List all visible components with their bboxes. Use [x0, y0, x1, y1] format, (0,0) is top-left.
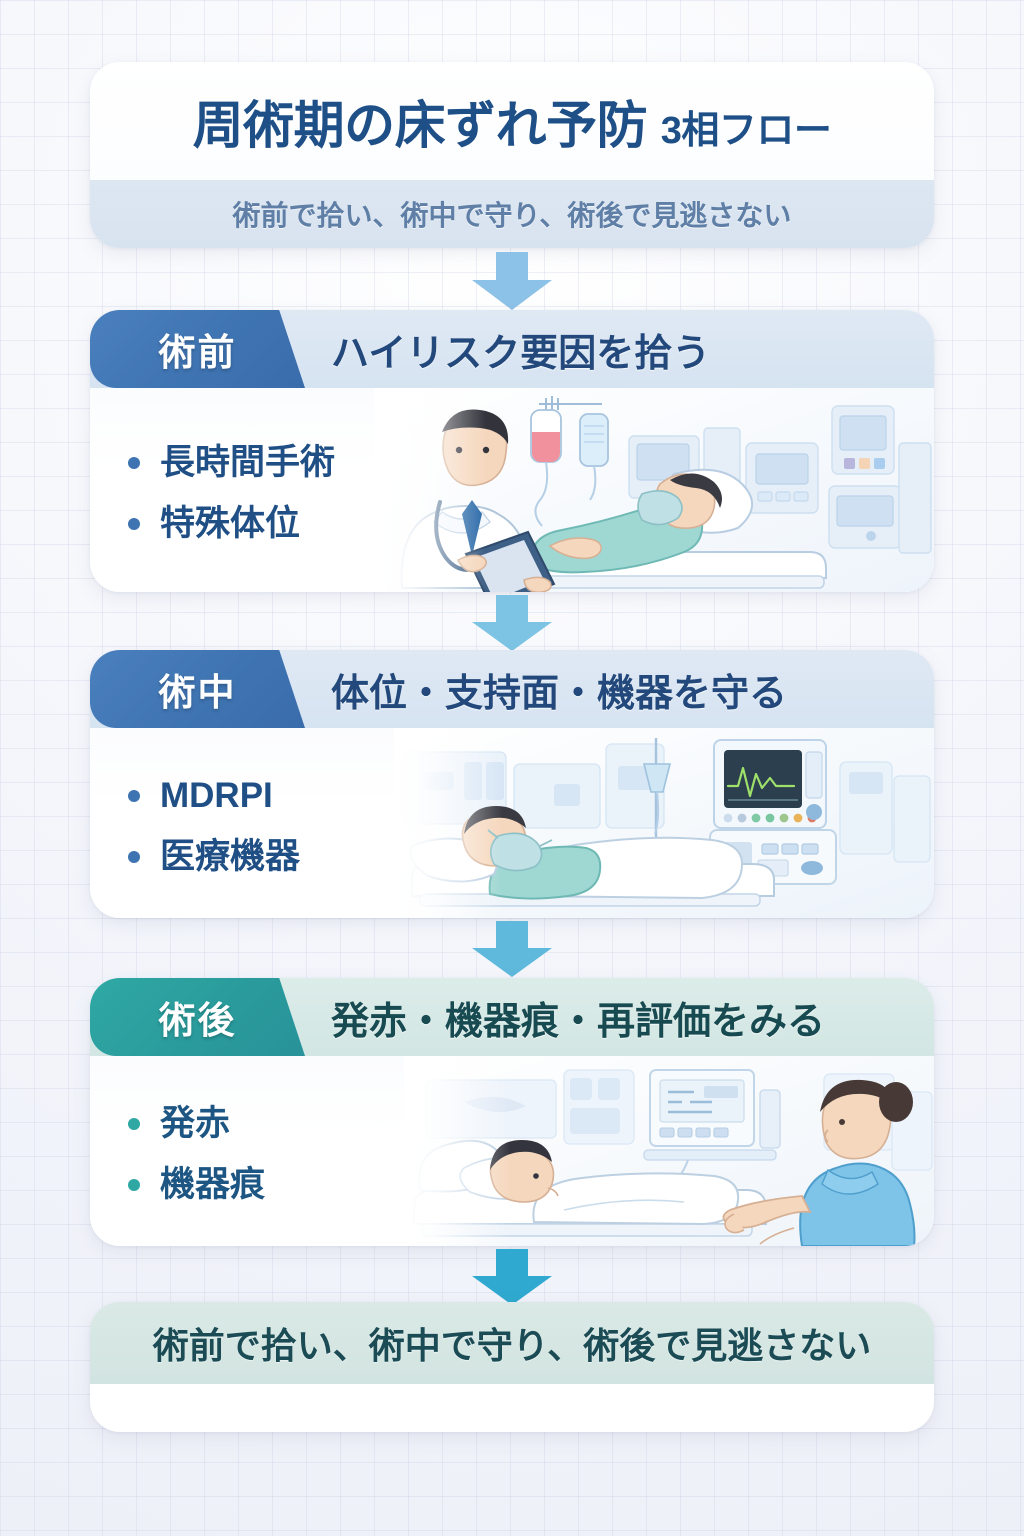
title-main-row: 周術期の床ずれ予防 3相フロー [90, 62, 934, 180]
bullet-list-postop: 発赤 機器痕 [90, 1100, 265, 1202]
bullet-label: MDRPI [160, 778, 273, 813]
phase-badge-preop: 術前 [90, 310, 305, 388]
list-item: MDRPI [128, 778, 300, 813]
bullet-dot-icon [128, 518, 140, 530]
title-card: 周術期の床ずれ予防 3相フロー 術前で拾い、術中で守り、術後で見逃さない [90, 62, 934, 248]
illustration-preop [374, 388, 934, 592]
phase-header-intraop: 術中 体位・支持面・機器を守る [90, 650, 934, 728]
infographic-page: 周術期の床ずれ予防 3相フロー 術前で拾い、術中で守り、術後で見逃さない 術前 … [0, 0, 1024, 1536]
phase-body-preop: 長時間手術 特殊体位 [90, 388, 934, 592]
bullet-dot-icon [128, 851, 140, 863]
bullet-label: 機器痕 [160, 1167, 265, 1202]
footer-band: 術前で拾い、術中で守り、術後で見逃さない [90, 1302, 934, 1384]
bullet-label: 特殊体位 [160, 506, 300, 541]
phase-body-postop: 発赤 機器痕 [90, 1056, 934, 1246]
phase-card-postop: 術後 発赤・機器痕・再評価をみる [90, 978, 934, 1246]
list-item: 特殊体位 [128, 506, 335, 541]
phase-card-intraop: 術中 体位・支持面・機器を守る [90, 650, 934, 918]
bullet-dot-icon [128, 457, 140, 469]
footer-card: 術前で拾い、術中で守り、術後で見逃さない [90, 1302, 934, 1432]
illustration-intraop [394, 728, 934, 918]
bullet-dot-icon [128, 1179, 140, 1191]
footer-message: 術前で拾い、術中で守り、術後で見逃さない [153, 1317, 872, 1369]
list-item: 長時間手術 [128, 445, 335, 480]
phase-heading-postop: 発赤・機器痕・再評価をみる [305, 978, 825, 1056]
bullet-label: 長時間手術 [160, 445, 335, 480]
page-title: 周術期の床ずれ予防 3相フロー [193, 84, 832, 158]
bullet-label: 医療機器 [160, 839, 300, 874]
phase-header-preop: 術前 ハイリスク要因を拾う [90, 310, 934, 388]
bullet-list-preop: 長時間手術 特殊体位 [90, 439, 335, 541]
page-subtitle: 術前で拾い、術中で守り、術後で見逃さない [233, 194, 792, 234]
phase-badge-intraop: 術中 [90, 650, 305, 728]
arrow-phase2-to-phase3 [0, 920, 1024, 978]
arrow-title-to-phase1 [0, 250, 1024, 312]
arrow-phase3-to-footer [0, 1248, 1024, 1306]
list-item: 医療機器 [128, 839, 300, 874]
list-item: 発赤 [128, 1106, 265, 1141]
bullet-label: 発赤 [160, 1106, 230, 1141]
arrow-phase1-to-phase2 [0, 594, 1024, 652]
illustration-postop [404, 1056, 934, 1246]
list-item: 機器痕 [128, 1167, 265, 1202]
phase-heading-preop: ハイリスク要因を拾う [305, 310, 710, 388]
phase-card-preop: 術前 ハイリスク要因を拾う [90, 310, 934, 592]
phase-heading-intraop: 体位・支持面・機器を守る [305, 650, 787, 728]
bullet-dot-icon [128, 790, 140, 802]
phase-header-postop: 術後 発赤・機器痕・再評価をみる [90, 978, 934, 1056]
bullet-dot-icon [128, 1118, 140, 1130]
phase-badge-postop: 術後 [90, 978, 305, 1056]
bullet-list-intraop: MDRPI 医療機器 [90, 772, 300, 874]
title-subtitle-band: 術前で拾い、術中で守り、術後で見逃さない [90, 180, 934, 248]
phase-body-intraop: MDRPI 医療機器 [90, 728, 934, 918]
